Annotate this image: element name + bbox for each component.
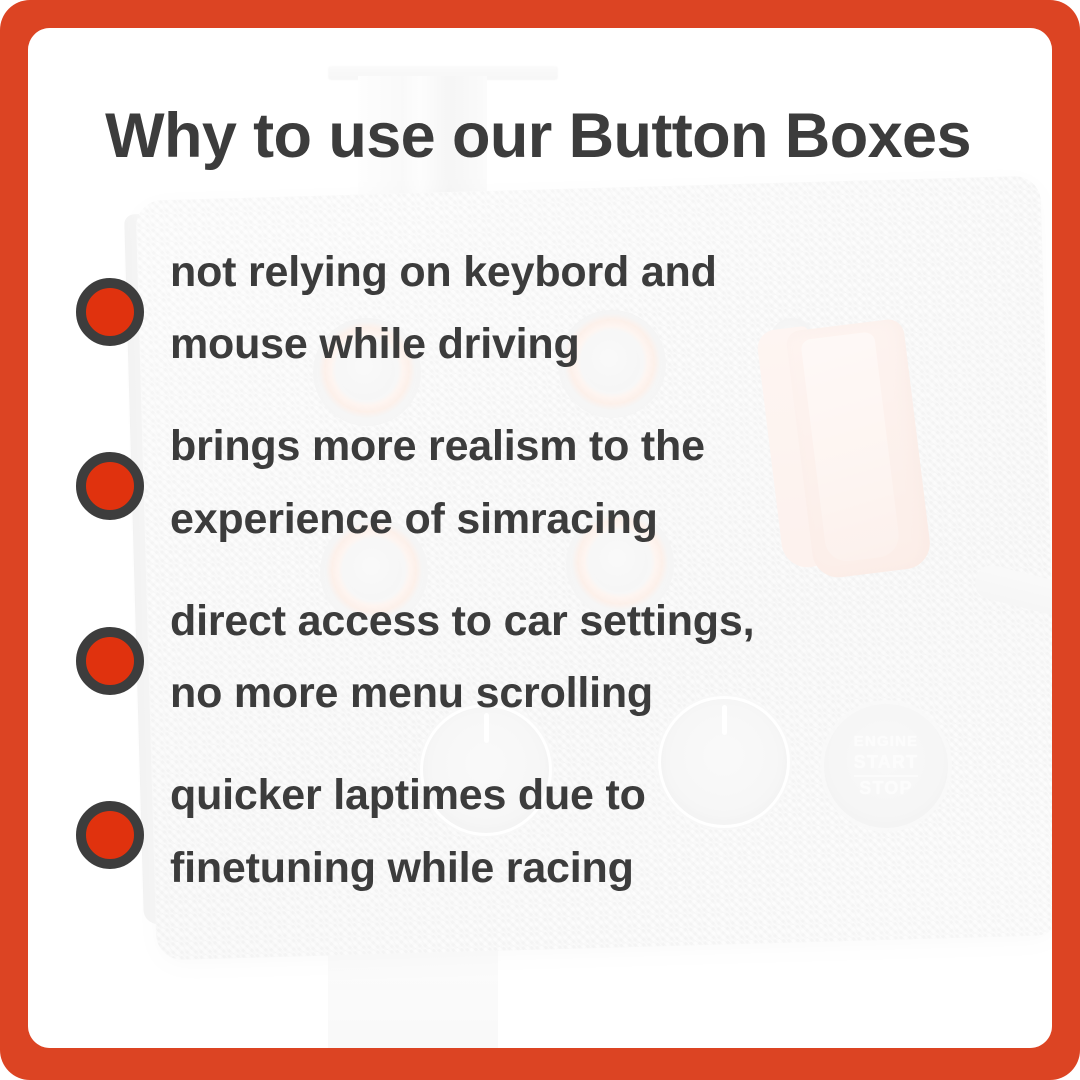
white-card: ENGINE START STOP Why to use our Button … <box>28 28 1052 1048</box>
list-item-line: brings more realism to the <box>170 410 1052 482</box>
list-item-line: not relying on keybord and <box>170 236 1052 308</box>
list-item-line: direct access to car settings, <box>170 585 1052 657</box>
list-item: brings more realism to the experience of… <box>28 410 1052 554</box>
list-item-line: finetuning while racing <box>170 832 1052 904</box>
list-item: not relying on keybord and mouse while d… <box>28 236 1052 380</box>
red-circle-bullet-icon <box>76 452 144 520</box>
benefits-list: not relying on keybord and mouse while d… <box>28 236 1052 934</box>
list-item-text: not relying on keybord and mouse while d… <box>170 236 1052 380</box>
list-item: quicker laptimes due to finetuning while… <box>28 759 1052 903</box>
list-item-line: quicker laptimes due to <box>170 759 1052 831</box>
content-layer: Why to use our Button Boxes not relying … <box>28 28 1052 1048</box>
list-item-text: direct access to car settings, no more m… <box>170 585 1052 729</box>
page-title: Why to use our Button Boxes <box>58 100 1018 172</box>
poster-canvas: ENGINE START STOP Why to use our Button … <box>0 0 1080 1080</box>
list-item-text: quicker laptimes due to finetuning while… <box>170 759 1052 903</box>
list-item: direct access to car settings, no more m… <box>28 585 1052 729</box>
list-item-line: no more menu scrolling <box>170 657 1052 729</box>
list-item-line: mouse while driving <box>170 308 1052 380</box>
red-circle-bullet-icon <box>76 627 144 695</box>
red-circle-bullet-icon <box>76 278 144 346</box>
red-circle-bullet-icon <box>76 801 144 869</box>
list-item-line: experience of simracing <box>170 483 1052 555</box>
list-item-text: brings more realism to the experience of… <box>170 410 1052 554</box>
